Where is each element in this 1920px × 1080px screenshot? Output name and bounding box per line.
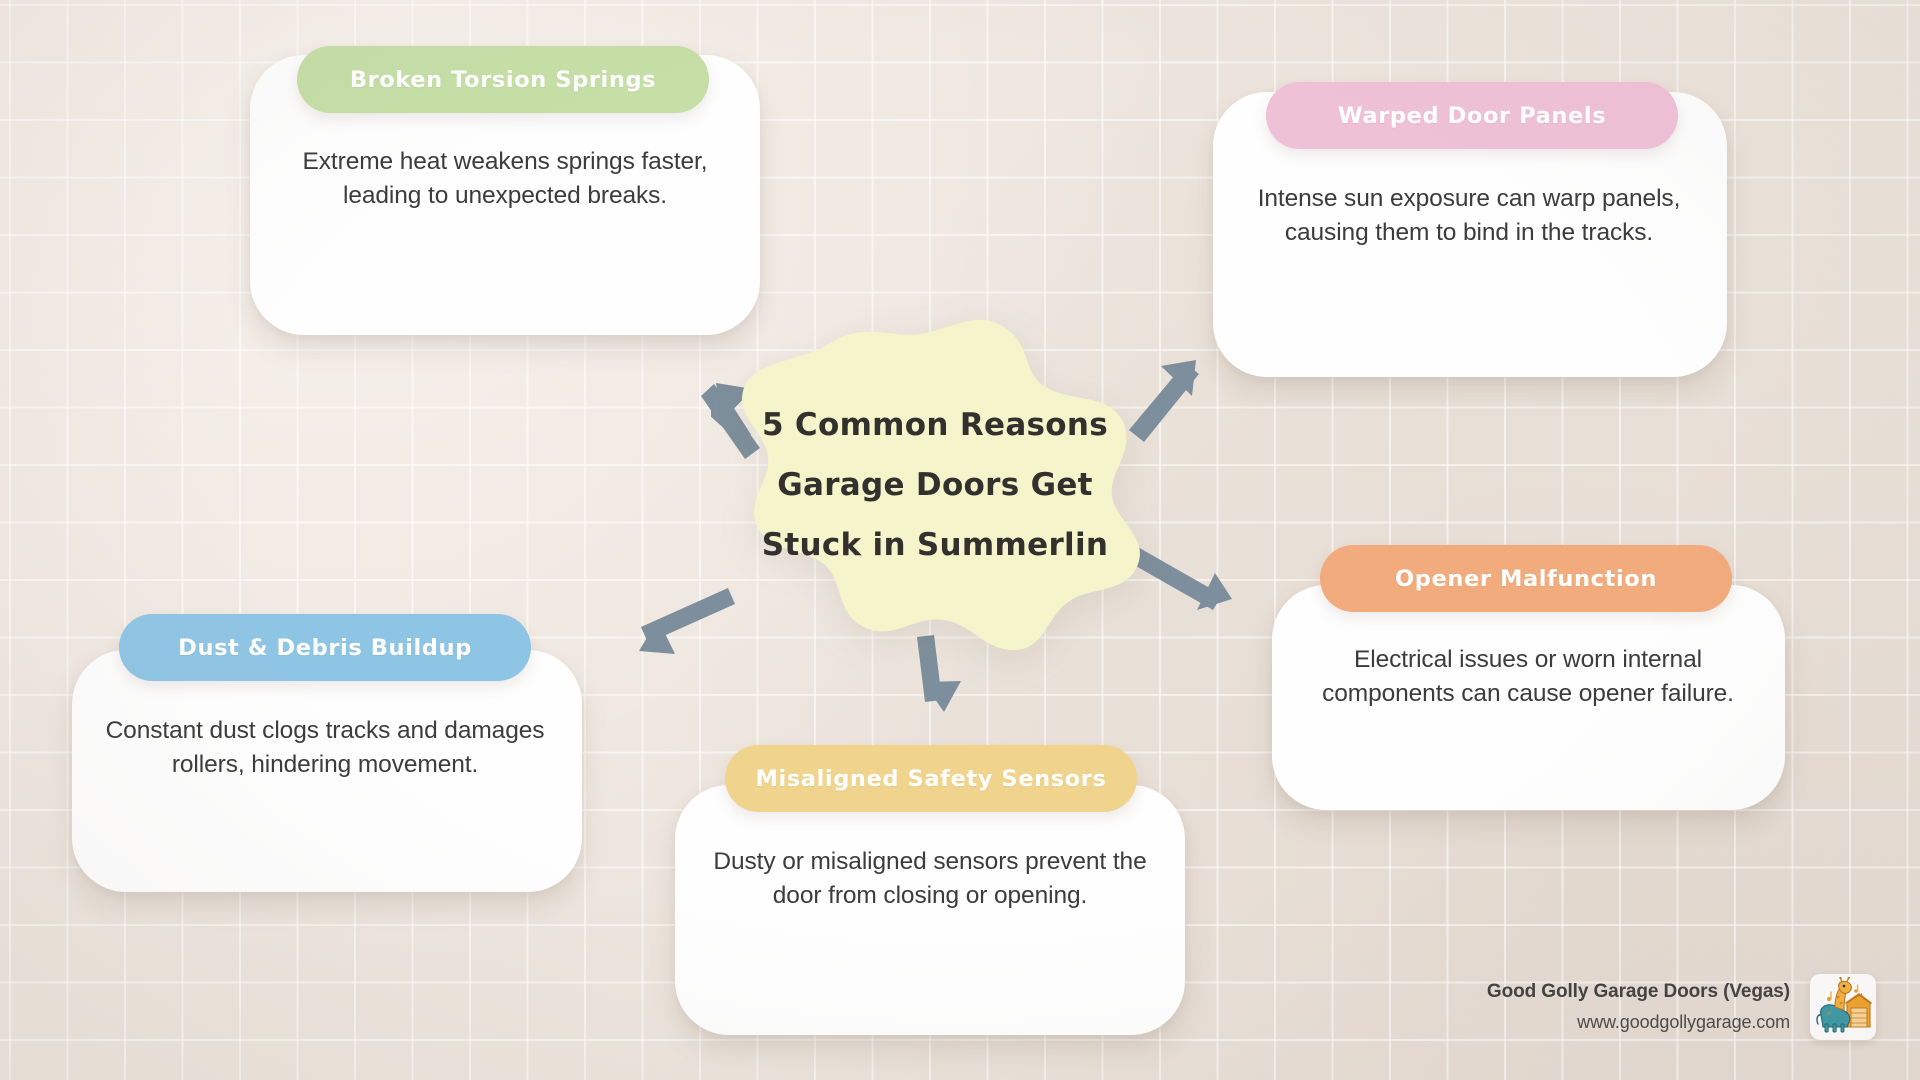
card-header-pill-dust-debris-buildup: Dust & Debris Buildup <box>119 614 531 681</box>
card-warped-door-panels[interactable]: Warped Door Panels Intense sun exposure … <box>1213 92 1727 377</box>
card-description: Electrical issues or worn internal compo… <box>1296 643 1760 711</box>
card-header-pill-opener-malfunction: Opener Malfunction <box>1320 545 1732 612</box>
card-opener-malfunction[interactable]: Opener Malfunction Electrical issues or … <box>1272 585 1785 810</box>
card-title: Dust & Debris Buildup <box>178 635 472 661</box>
card-dust-debris-buildup[interactable]: Dust & Debris Buildup Constant dust clog… <box>72 650 582 892</box>
giraffe-and-garage-icon <box>1813 977 1873 1037</box>
center-topic-blob[interactable]: 5 Common Reasons Garage Doors Get Stuck … <box>740 340 1130 630</box>
card-header-pill-warped-door-panels: Warped Door Panels <box>1266 82 1678 149</box>
card-broken-torsion-springs[interactable]: Broken Torsion Springs Extreme heat weak… <box>250 55 760 335</box>
card-description: Extreme heat weakens springs faster, lea… <box>280 145 730 213</box>
card-misaligned-safety-sensors[interactable]: Misaligned Safety Sensors Dusty or misal… <box>675 785 1185 1035</box>
center-line-3: Stuck in Summerlin <box>762 515 1109 575</box>
brand-footer: Good Golly Garage Doors (Vegas) www.good… <box>1487 974 1876 1040</box>
card-header-pill-broken-torsion-springs: Broken Torsion Springs <box>297 46 709 113</box>
card-title: Opener Malfunction <box>1395 566 1657 592</box>
card-description: Dusty or misaligned sensors prevent the … <box>697 845 1163 913</box>
card-description: Intense sun exposure can warp panels, ca… <box>1239 182 1699 250</box>
brand-url[interactable]: www.goodgollygarage.com <box>1487 1012 1790 1033</box>
center-line-1: 5 Common Reasons <box>762 395 1108 455</box>
card-title: Misaligned Safety Sensors <box>756 766 1107 792</box>
brand-text-block: Good Golly Garage Doors (Vegas) www.good… <box>1487 981 1790 1033</box>
card-header-pill-misaligned-safety-sensors: Misaligned Safety Sensors <box>725 745 1137 812</box>
center-line-2: Garage Doors Get <box>777 455 1093 515</box>
card-title: Warped Door Panels <box>1338 103 1606 129</box>
card-description: Constant dust clogs tracks and damages r… <box>94 714 556 782</box>
brand-name: Good Golly Garage Doors (Vegas) <box>1487 981 1790 1003</box>
center-topic-text: 5 Common Reasons Garage Doors Get Stuck … <box>740 340 1130 630</box>
card-title: Broken Torsion Springs <box>350 67 656 93</box>
brand-logo <box>1810 974 1876 1040</box>
